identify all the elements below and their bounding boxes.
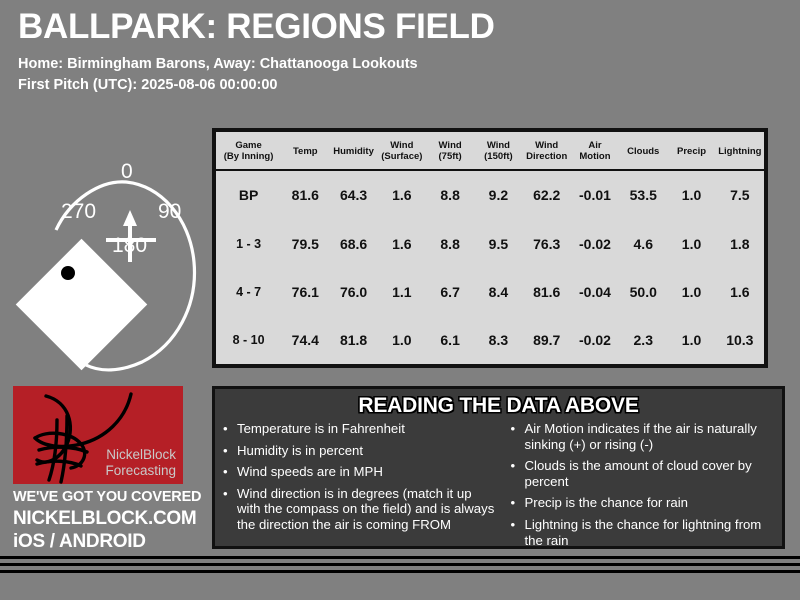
cell-wind-direction: 89.7 (523, 316, 571, 364)
sponsor-logo-panel: NickelBlock Forecasting WE'VE GOT YOU CO… (13, 386, 203, 551)
bullet-icon: • (511, 517, 516, 533)
legend-item: •Humidity is in percent (221, 443, 499, 459)
legend-item: •Precip is the chance for rain (509, 495, 777, 511)
legend-item: •Lightning is the chance for lightning f… (509, 517, 777, 548)
cell-clouds: 53.5 (619, 170, 667, 220)
column-header-humidity: Humidity (329, 132, 377, 170)
brand-line-2: Forecasting (105, 463, 176, 479)
cell-clouds: 2.3 (619, 316, 667, 364)
cell-game: 1 - 3 (216, 220, 281, 268)
legend-item: •Temperature is in Fahrenheit (221, 421, 499, 437)
legend-title: READING THE DATA ABOVE (215, 393, 782, 418)
table-row: BP81.664.31.68.89.262.2-0.0153.51.07.5 (216, 170, 764, 220)
cell-wind-150ft: 8.4 (474, 268, 522, 316)
field-svg (8, 140, 208, 375)
cell-wind-75ft: 6.1 (426, 316, 474, 364)
cell-wind-75ft: 8.8 (426, 220, 474, 268)
legend-columns: •Temperature is in Fahrenheit•Humidity i… (215, 421, 782, 554)
cell-lightning: 10.3 (716, 316, 764, 364)
cell-game: BP (216, 170, 281, 220)
pitchers-mound-dot (61, 266, 75, 280)
column-header-lightning: Lightning (716, 132, 764, 170)
bullet-icon: • (223, 421, 228, 437)
compass-label-east: 90 (158, 200, 181, 224)
legend-list-left: •Temperature is in Fahrenheit•Humidity i… (221, 421, 499, 533)
column-header-wind-150ft: Wind(150ft) (474, 132, 522, 170)
brand-line-1: NickelBlock (105, 447, 176, 463)
nickelblock-logo-box: NickelBlock Forecasting (13, 386, 183, 484)
cell-precip: 1.0 (667, 170, 715, 220)
cell-humidity: 64.3 (329, 170, 377, 220)
cell-precip: 1.0 (667, 268, 715, 316)
infield-diamond (16, 239, 148, 371)
column-header-clouds: Clouds (619, 132, 667, 170)
bottom-stripe-decoration (0, 556, 800, 573)
table-row: 1 - 379.568.61.68.89.576.3-0.024.61.01.8 (216, 220, 764, 268)
cell-air-motion: -0.02 (571, 316, 619, 364)
cell-game: 8 - 10 (216, 316, 281, 364)
cell-temp: 74.4 (281, 316, 329, 364)
legend-item: •Wind direction is in degrees (match it … (221, 486, 499, 533)
teams-line: Home: Birmingham Barons, Away: Chattanoo… (18, 54, 778, 75)
bullet-icon: • (511, 458, 516, 474)
cell-clouds: 50.0 (619, 268, 667, 316)
page-title: BALLPARK: REGIONS FIELD (18, 6, 778, 48)
compass-label-west: 270 (61, 200, 96, 224)
cell-wind-150ft: 9.5 (474, 220, 522, 268)
nickelblock-wordmark: NickelBlock Forecasting (105, 447, 176, 479)
cell-lightning: 7.5 (716, 170, 764, 220)
logo-tagline: WE'VE GOT YOU COVERED (13, 488, 203, 507)
cell-wind-150ft: 9.2 (474, 170, 522, 220)
column-header-wind-75ft: Wind(75ft) (426, 132, 474, 170)
legend-list-right: •Air Motion indicates if the air is natu… (509, 421, 777, 548)
stripe-3 (0, 570, 800, 573)
legend-item: •Air Motion indicates if the air is natu… (509, 421, 777, 452)
cell-wind-75ft: 6.7 (426, 268, 474, 316)
cell-precip: 1.0 (667, 220, 715, 268)
cell-air-motion: -0.02 (571, 220, 619, 268)
table-header: Game(By Inning) Temp Humidity Wind(Surfa… (216, 132, 764, 170)
first-pitch-line: First Pitch (UTC): 2025-08-06 00:00:00 (18, 75, 778, 96)
cell-wind-75ft: 8.8 (426, 170, 474, 220)
ballpark-field-diagram: 0 90 180 270 (8, 140, 208, 375)
cell-temp: 81.6 (281, 170, 329, 220)
table-body: BP81.664.31.68.89.262.2-0.0153.51.07.51 … (216, 170, 764, 364)
cell-humidity: 68.6 (329, 220, 377, 268)
bullet-icon: • (223, 443, 228, 459)
forecast-table: Game(By Inning) Temp Humidity Wind(Surfa… (216, 132, 764, 364)
column-header-precip: Precip (667, 132, 715, 170)
legend-item: •Clouds is the amount of cloud cover by … (509, 458, 777, 489)
cell-air-motion: -0.01 (571, 170, 619, 220)
column-header-air-motion: AirMotion (571, 132, 619, 170)
column-header-wind-surface: Wind(Surface) (378, 132, 426, 170)
bullet-icon: • (511, 421, 516, 437)
compass-north-arrowhead (123, 210, 137, 226)
bullet-icon: • (511, 495, 516, 511)
compass-label-south: 180 (112, 234, 147, 258)
cell-precip: 1.0 (667, 316, 715, 364)
cell-lightning: 1.8 (716, 220, 764, 268)
cell-humidity: 81.8 (329, 316, 377, 364)
cell-temp: 79.5 (281, 220, 329, 268)
legend-item: •Wind speeds are in MPH (221, 464, 499, 480)
page-header: BALLPARK: REGIONS FIELD Home: Birmingham… (18, 6, 778, 96)
cell-wind-150ft: 8.3 (474, 316, 522, 364)
cell-wind-surface: 1.1 (378, 268, 426, 316)
cell-wind-surface: 1.6 (378, 170, 426, 220)
cell-humidity: 76.0 (329, 268, 377, 316)
logo-url[interactable]: NICKELBLOCK.COM (13, 507, 203, 530)
cell-clouds: 4.6 (619, 220, 667, 268)
compass-label-north: 0 (121, 160, 133, 184)
legend-column-right: •Air Motion indicates if the air is natu… (499, 421, 777, 554)
cell-game: 4 - 7 (216, 268, 281, 316)
cell-lightning: 1.6 (716, 268, 764, 316)
table-row: 8 - 1074.481.81.06.18.389.7-0.022.31.010… (216, 316, 764, 364)
logo-platforms: iOS / ANDROID (13, 530, 203, 553)
column-header-wind-direction: WindDirection (523, 132, 571, 170)
cell-temp: 76.1 (281, 268, 329, 316)
legend-column-left: •Temperature is in Fahrenheit•Humidity i… (221, 421, 499, 554)
cell-wind-direction: 76.3 (523, 220, 571, 268)
forecast-table-panel: Game(By Inning) Temp Humidity Wind(Surfa… (212, 128, 768, 368)
column-header-game: Game(By Inning) (216, 132, 281, 170)
bullet-icon: • (223, 486, 228, 502)
bullet-icon: • (223, 464, 228, 480)
cell-wind-direction: 62.2 (523, 170, 571, 220)
cell-air-motion: -0.04 (571, 268, 619, 316)
cell-wind-surface: 1.6 (378, 220, 426, 268)
column-header-temp: Temp (281, 132, 329, 170)
cell-wind-direction: 81.6 (523, 268, 571, 316)
table-row: 4 - 776.176.01.16.78.481.6-0.0450.01.01.… (216, 268, 764, 316)
table-header-row: Game(By Inning) Temp Humidity Wind(Surfa… (216, 132, 764, 170)
cell-wind-surface: 1.0 (378, 316, 426, 364)
legend-panel: READING THE DATA ABOVE •Temperature is i… (212, 386, 785, 549)
